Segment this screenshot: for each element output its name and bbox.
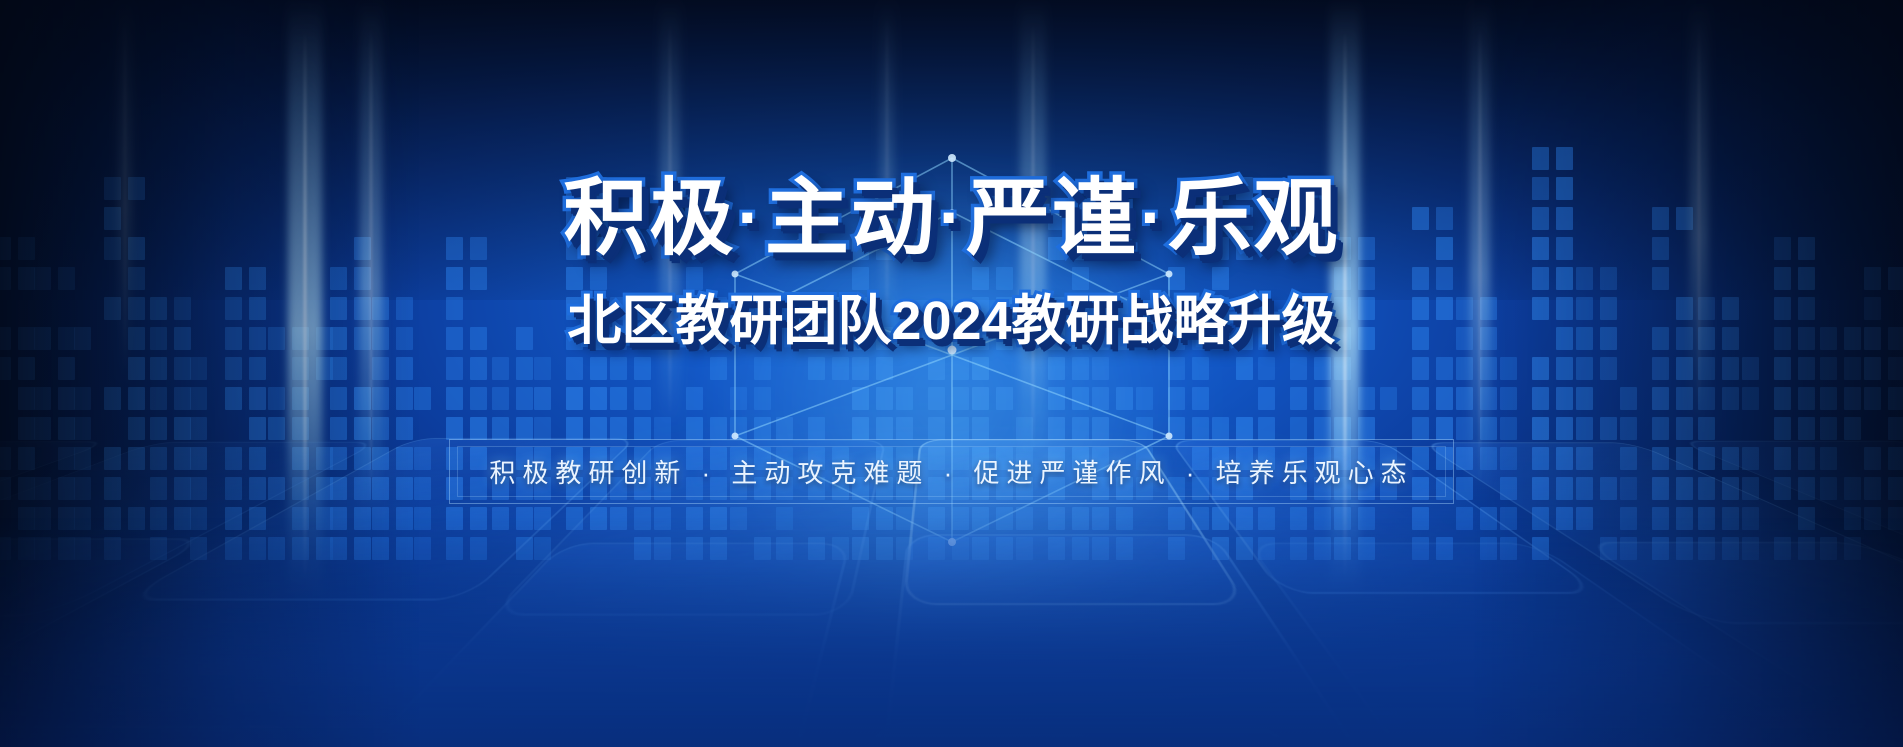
title-part-4: 乐观 (1167, 176, 1339, 260)
skyline-tower (1168, 267, 1209, 560)
ground-tile (0, 0, 1903, 747)
ground-tile (1169, 440, 1603, 594)
vertical-light-beam (1470, 0, 1490, 500)
skyline-tower (776, 417, 793, 560)
skyline-tower (1742, 357, 1759, 560)
skyline-tower (1258, 327, 1275, 560)
skyline-tower (1048, 207, 1089, 560)
vertical-light-beam (1020, 0, 1046, 470)
title-separator-2: · (937, 182, 966, 252)
tagline-frame: 积极教研创新 · 主动攻克难题 · 促进严谨作风 · 培养乐观心态 (449, 439, 1453, 504)
skyline-tower (330, 207, 371, 560)
skyline-tower (1212, 177, 1253, 560)
skyline-tower (808, 297, 849, 560)
skyline-tower (1774, 237, 1815, 560)
skyline-tower (1290, 297, 1331, 560)
skyline-tower (1334, 237, 1375, 560)
ground-tile (1246, 543, 1903, 747)
skyline-tower (0, 237, 35, 560)
hexagon-wireframe-icon (717, 150, 1187, 555)
skyline-tower (1576, 267, 1617, 560)
banner-subtitle: 北区教研团队2024教研战略升级 (567, 276, 1335, 355)
ground-tile (0, 0, 1903, 747)
bottom-vignette (0, 517, 1903, 747)
skyline-tower (34, 267, 75, 560)
ground-tile (0, 0, 1903, 747)
ground-tile (0, 0, 1903, 747)
ground-tile (0, 0, 1903, 747)
ground-tile (0, 0, 1903, 747)
skyline-tower (372, 297, 413, 560)
title-part-2: 主动 (765, 176, 937, 260)
title-separator-1: · (736, 182, 765, 252)
top-vignette (0, 0, 1903, 300)
skyline-tower (104, 177, 145, 560)
skyline-tower (1820, 327, 1861, 560)
center-glow (640, 190, 1260, 610)
banner-title: 积极 · 主动 · 严谨 · 乐观 (564, 176, 1340, 260)
ground-tile (0, 0, 1786, 747)
skyline-tower (268, 327, 333, 560)
ground-tile (0, 0, 1903, 747)
skyline-tower (534, 357, 551, 560)
ground-tile (489, 440, 887, 616)
ground-tile (121, 438, 638, 601)
vertical-light-beam (288, 0, 322, 600)
ground-fade (0, 447, 1903, 747)
skyline-tower (686, 267, 727, 560)
skyline-tower (190, 357, 207, 560)
skyline-tower (150, 297, 191, 560)
ground-glow (380, 430, 1530, 747)
ground-tile (0, 0, 1903, 747)
title-part-1: 积极 (564, 176, 736, 260)
skyline-tower (74, 327, 91, 560)
skyline-tower (446, 237, 487, 560)
vertical-light-beam (1690, 0, 1708, 430)
skyline-tower (730, 357, 771, 560)
vertical-light-beam (1330, 0, 1360, 600)
ground-tile (0, 442, 379, 617)
ground-tile (1420, 442, 1903, 624)
ground-tile (0, 0, 1903, 747)
title-separator-3: · (1138, 182, 1167, 252)
vertical-light-beam (118, 0, 132, 380)
ground-tile (1392, 740, 1903, 747)
ground-tile (0, 0, 1903, 747)
ground-tile (0, 0, 1683, 747)
ground-tile (709, 722, 1889, 747)
skyline-tower (1698, 297, 1739, 560)
ground-tile (230, 543, 852, 747)
skyline-tower (1652, 207, 1693, 560)
banner-tagline: 积极教研创新 · 主动攻克难题 · 促进严谨作风 · 培养乐观心态 (489, 453, 1413, 490)
skyline-tower (1412, 207, 1453, 560)
perspective-tile-grid (0, 437, 1903, 747)
banner-content: 积极 · 主动 · 严谨 · 乐观 北区教研团队2024教研战略升级 积极教研创… (0, 0, 1903, 747)
tagline-frame-inner (457, 446, 1445, 497)
skyline-tower (1532, 147, 1573, 560)
vertical-light-beam (360, 0, 382, 520)
ground-tile (0, 0, 1903, 747)
ground-tile (903, 439, 1249, 605)
ground-tile (0, 0, 1903, 747)
skyline-tower (896, 387, 913, 560)
skyline-tower (1136, 387, 1153, 560)
ground-tile (0, 0, 1903, 747)
skyline-tower (928, 327, 969, 560)
skyline-tower (1620, 387, 1637, 560)
skyline-tower (225, 267, 266, 560)
ground-tile (867, 535, 1468, 747)
right-vignette (1473, 0, 1903, 747)
ground-tile (0, 0, 1903, 747)
left-vignette (0, 0, 420, 747)
skyline-tower (1380, 387, 1397, 560)
ground-tile (0, 0, 1903, 747)
ground-tile (0, 725, 314, 747)
banner-canvas: 积极 · 主动 · 严谨 · 乐观 北区教研团队2024教研战略升级 积极教研创… (0, 0, 1903, 747)
ground-tile (1582, 542, 1903, 747)
skyline-tower (972, 267, 1013, 560)
vertical-light-beam (660, 0, 680, 430)
skyline-tower (1456, 297, 1497, 560)
vertical-light-beam (880, 0, 894, 360)
skyline-tower (1016, 357, 1033, 560)
ground-tile (0, 441, 113, 612)
title-part-3: 严谨 (966, 176, 1138, 260)
skyline-tower (852, 237, 893, 560)
skyline-tower (1500, 357, 1517, 560)
skyline-tower (414, 387, 431, 560)
ground-tile (0, 0, 1903, 747)
ground-tile (0, 539, 210, 747)
skyline-tower (610, 297, 651, 560)
pixel-city-skyline (0, 0, 1903, 560)
skyline-tower (654, 387, 671, 560)
ground-tile (1677, 441, 1903, 609)
skyline-tower (1864, 267, 1903, 560)
skyline-tower (492, 327, 533, 560)
ground-tile (0, 0, 1903, 747)
skyline-tower (566, 177, 607, 560)
ground-tile (0, 0, 1903, 747)
tagline-frame-outer (449, 439, 1453, 504)
skyline-tower (1092, 297, 1133, 560)
